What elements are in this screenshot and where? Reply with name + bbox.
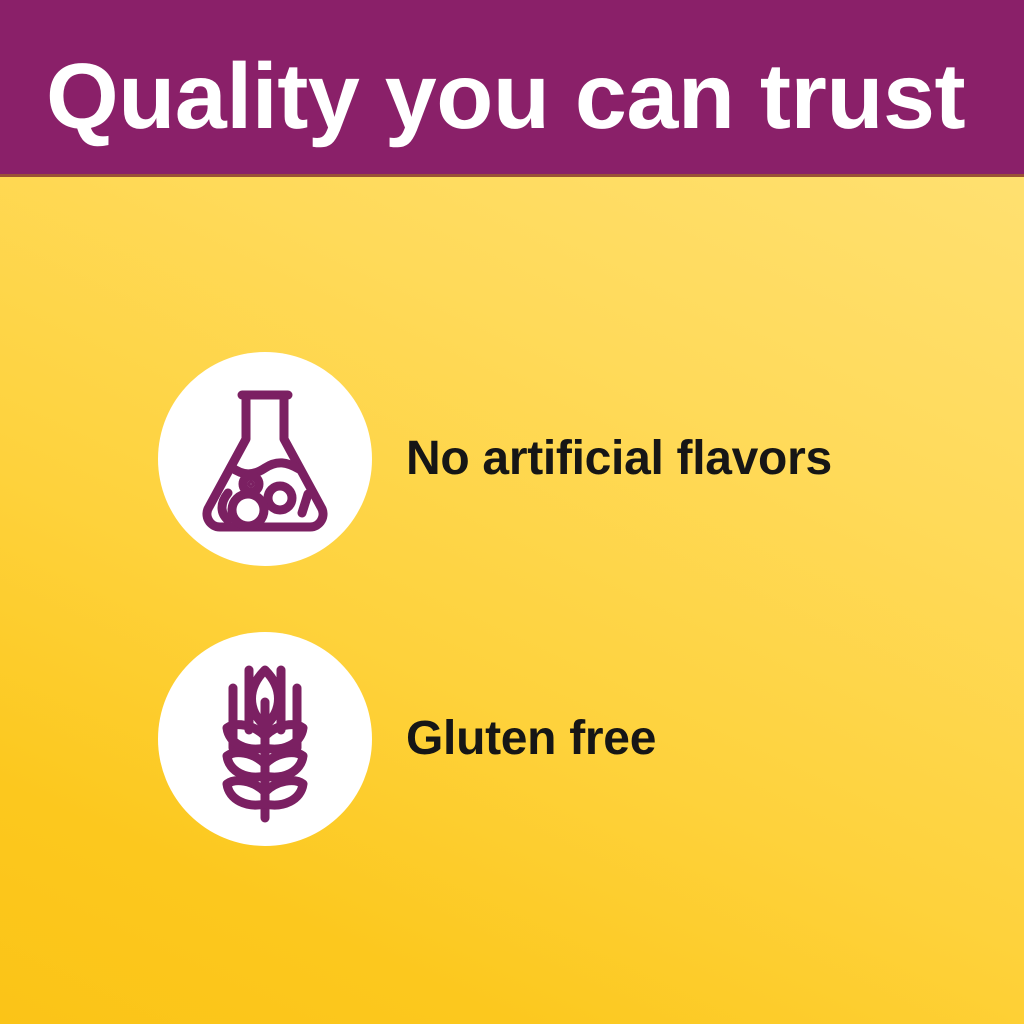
feature-item: Gluten free xyxy=(158,632,656,846)
body-background xyxy=(0,177,1024,1024)
header-band: Quality you can trust xyxy=(0,0,1024,174)
icon-badge xyxy=(158,352,372,566)
flask-icon xyxy=(198,383,332,535)
page-title: Quality you can trust xyxy=(46,50,1003,143)
icon-badge xyxy=(158,632,372,846)
wheat-icon xyxy=(209,652,321,826)
quality-claims-banner: Quality you can trust xyxy=(0,0,1024,1024)
feature-item: No artificial flavors xyxy=(158,352,832,566)
feature-label: No artificial flavors xyxy=(406,434,832,484)
feature-label: Gluten free xyxy=(406,714,656,764)
